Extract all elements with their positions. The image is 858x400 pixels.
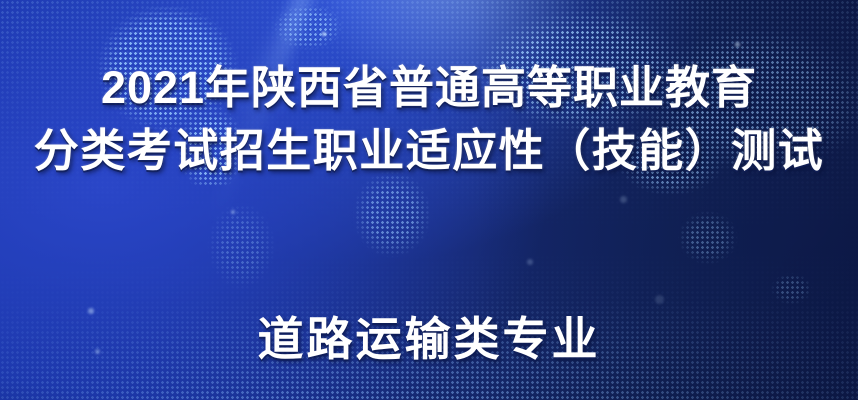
sparkle-dot-5 bbox=[655, 295, 664, 304]
banner-title-line-1: 2021年陕西省普通高等职业教育 bbox=[101, 62, 757, 114]
light-beam-2 bbox=[242, 0, 343, 188]
continent-africa-dots bbox=[300, 150, 500, 350]
sparkle-dot-7 bbox=[527, 259, 533, 265]
continent-eurasia-dots bbox=[430, 0, 858, 220]
continent-oceania-dots bbox=[620, 180, 840, 340]
sparkle-dot-1 bbox=[322, 32, 326, 36]
banner-title-line-2: 分类考试招生职业适应性（技能）测试 bbox=[34, 124, 825, 178]
light-beam-3 bbox=[193, 0, 392, 177]
sparkle-dot-8 bbox=[231, 210, 235, 214]
banner-text-block: 2021年陕西省普通高等职业教育 分类考试招生职业适应性（技能）测试 道路运输类… bbox=[0, 0, 858, 400]
sparkle-dot-3 bbox=[88, 308, 94, 314]
continent-greenland-dots bbox=[248, 0, 368, 72]
light-beam-1 bbox=[203, 0, 366, 233]
promo-banner: 2021年陕西省普通高等职业教育 分类考试招生职业适应性（技能）测试 道路运输类… bbox=[0, 0, 858, 400]
light-beam-group bbox=[0, 0, 858, 400]
continent-north-america-dots bbox=[38, 0, 278, 186]
continent-south-america-dots bbox=[150, 170, 340, 360]
world-map-dot-pattern bbox=[0, 0, 858, 400]
sparkle-dot-6 bbox=[620, 196, 627, 203]
sparkle-dot-4 bbox=[95, 349, 100, 354]
bottom-dot-horizon-band bbox=[0, 250, 858, 400]
banner-subtitle: 道路运输类专业 bbox=[258, 311, 601, 367]
sparkle-dot-2 bbox=[735, 42, 740, 47]
edge-vignette bbox=[0, 0, 858, 400]
top-dot-fringe bbox=[0, 0, 858, 230]
top-glow bbox=[300, 0, 600, 110]
light-beam-4 bbox=[271, 0, 324, 157]
